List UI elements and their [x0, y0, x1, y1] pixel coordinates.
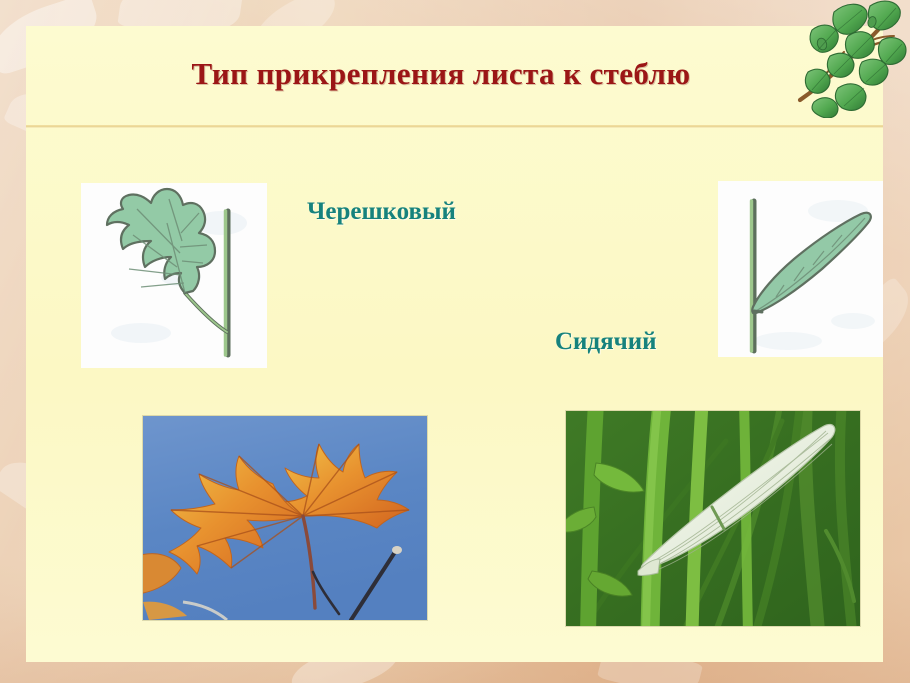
label-petiolate: Черешковый [307, 198, 456, 226]
slide-content-panel: Тип прикрепления листа к стеблю [26, 26, 883, 662]
sessile-leaf-diagram [718, 181, 883, 357]
petiolate-leaf-diagram [81, 183, 267, 368]
slide-root: Тип прикрепления листа к стеблю [0, 0, 910, 683]
sessile-leaf-photo [566, 411, 860, 626]
label-sessile: Сидячий [555, 328, 657, 356]
header-divider [26, 125, 883, 128]
maple-leaf-photo [143, 416, 427, 620]
page-title: Тип прикрепления листа к стеблю [96, 56, 786, 92]
slide-header: Тип прикрепления листа к стеблю [26, 26, 883, 125]
